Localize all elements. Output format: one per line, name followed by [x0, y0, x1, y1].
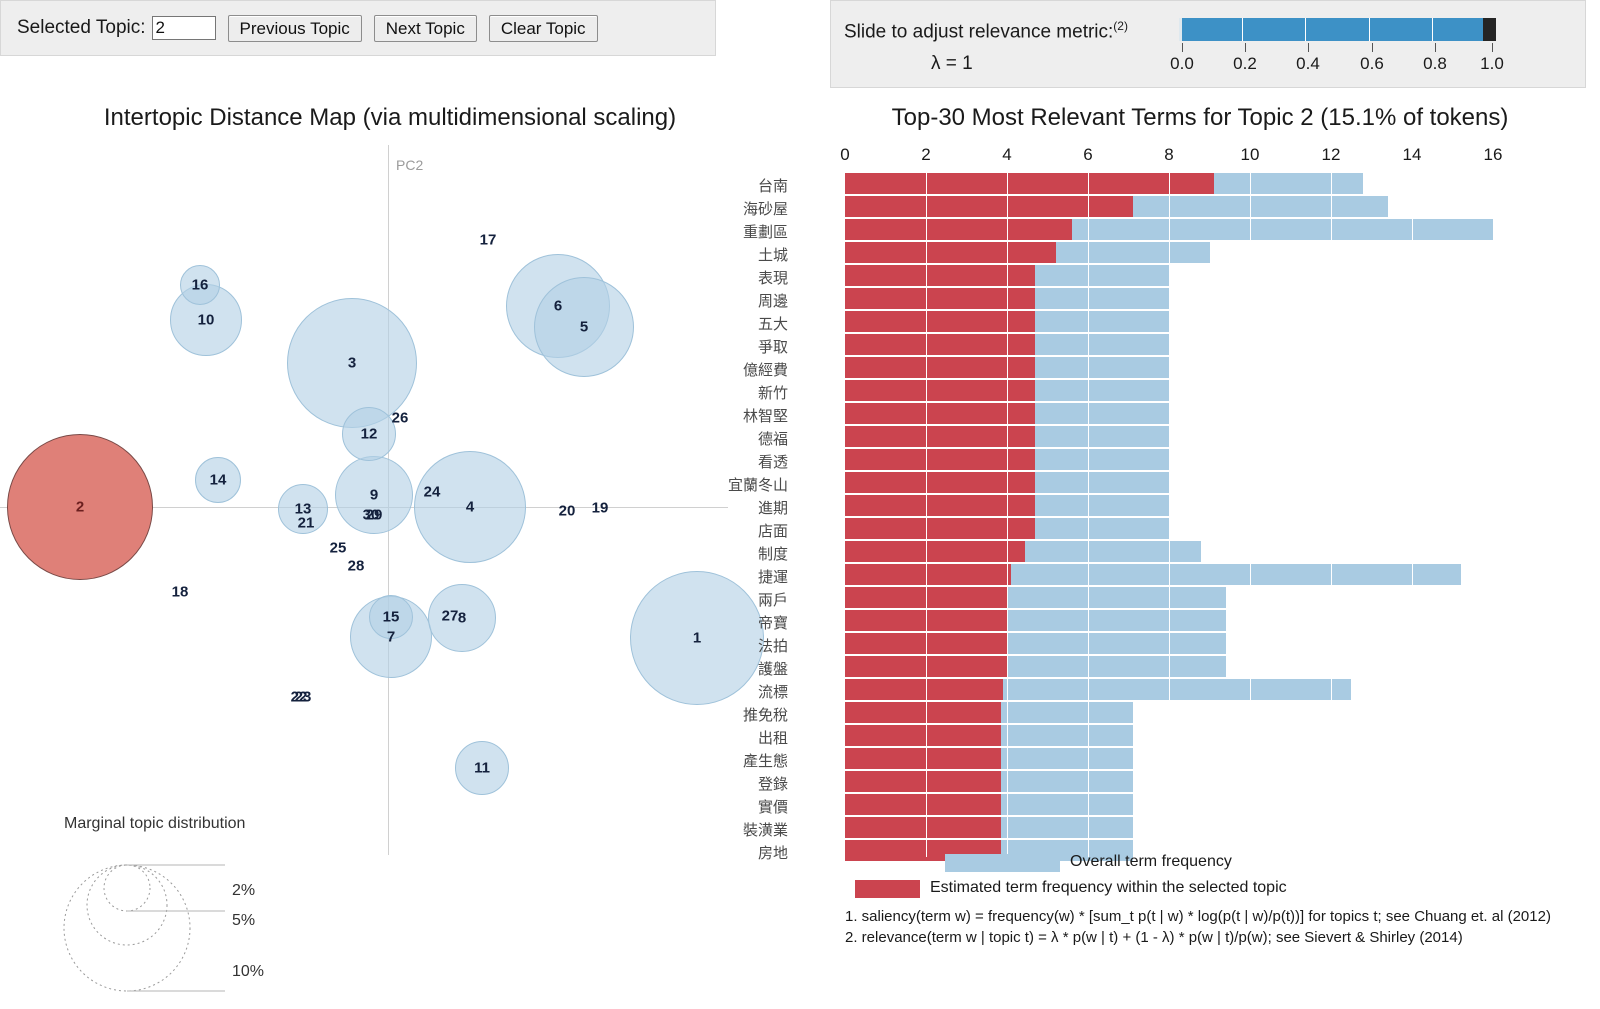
- relevance-slider-bar: Slide to adjust relevance metric:(2) λ =…: [830, 0, 1586, 88]
- topic-bubble-label-17[interactable]: 17: [480, 232, 497, 249]
- barchart-gridline: [1331, 167, 1332, 857]
- term-label[interactable]: 表現: [758, 267, 788, 288]
- term-label[interactable]: 店面: [758, 520, 788, 541]
- slider-track-start: [1179, 18, 1182, 41]
- barchart-tick-label: 2: [921, 145, 930, 165]
- barchart-gridline: [1007, 167, 1008, 857]
- legend-row-estimated: Estimated term frequency within the sele…: [845, 878, 1585, 900]
- estimated-frequency-bar: [845, 702, 1001, 723]
- term-label[interactable]: 出租: [758, 727, 788, 748]
- barchart-gridline: [926, 167, 927, 857]
- slider-tick-label: 0.4: [1296, 54, 1320, 74]
- term-label[interactable]: 新竹: [758, 382, 788, 403]
- intertopic-distance-map[interactable]: PC2 PC1 21345678910111213141516171819202…: [0, 145, 780, 855]
- estimated-frequency-bar: [845, 173, 1214, 194]
- term-label[interactable]: 億經費: [743, 359, 788, 380]
- term-label[interactable]: 德福: [758, 428, 788, 449]
- lambda-value-label: λ = 1: [931, 53, 973, 75]
- topic-bubble-label-25[interactable]: 25: [330, 540, 347, 557]
- relevance-slider-handle[interactable]: [1483, 18, 1496, 41]
- term-label[interactable]: 推免稅: [743, 704, 788, 725]
- slider-tick-label: 0.6: [1360, 54, 1384, 74]
- topic-bubble-label-7[interactable]: 7: [387, 629, 395, 646]
- term-label[interactable]: 產生態: [743, 750, 788, 771]
- topic-bubble-label-11[interactable]: 11: [474, 760, 490, 777]
- estimated-frequency-bar: [845, 748, 1001, 769]
- relevance-slider-label-text: Slide to adjust relevance metric:: [844, 21, 1113, 42]
- barchart-tick-label: 4: [1002, 145, 1011, 165]
- term-label[interactable]: 爭取: [758, 336, 788, 357]
- topic-bubble-label-4[interactable]: 4: [466, 499, 474, 516]
- pc2-axis-label: PC2: [396, 157, 423, 173]
- topic-bubble-label-30[interactable]: 30: [363, 507, 380, 524]
- intertopic-map-title: Intertopic Distance Map (via multidimens…: [0, 104, 780, 132]
- term-label[interactable]: 進期: [758, 497, 788, 518]
- topic-bubble-label-14[interactable]: 14: [210, 472, 227, 489]
- barchart-tick-label: 10: [1241, 145, 1260, 165]
- term-label[interactable]: 流標: [758, 681, 788, 702]
- barchart-legend: Overall term frequency Estimated term fr…: [845, 852, 1585, 904]
- estimated-frequency-bar: [845, 541, 1025, 562]
- topic-bubble-label-24[interactable]: 24: [424, 484, 441, 501]
- clear-topic-button[interactable]: Clear Topic: [489, 15, 598, 42]
- overall-frequency-label: Overall term frequency: [1070, 853, 1232, 871]
- topic-bubble-label-10[interactable]: 10: [198, 312, 215, 329]
- estimated-frequency-bar: [845, 725, 1001, 746]
- selected-topic-input[interactable]: [152, 16, 216, 40]
- slider-tick-label: 1.0: [1480, 54, 1504, 74]
- topic-bubble-label-21[interactable]: 21: [298, 515, 315, 532]
- axis-tick: [1492, 43, 1493, 52]
- topic-bubble-label-9[interactable]: 9: [370, 487, 378, 504]
- top-terms-barchart: 0246810121416 台南海砂屋重劃區土城表現周邊五大爭取億經費新竹林智堅…: [840, 145, 1540, 845]
- estimated-frequency-bar: [845, 817, 1001, 838]
- topic-bubble-label-8[interactable]: 8: [458, 610, 466, 627]
- estimated-frequency-bar: [845, 771, 1001, 792]
- topic-control-bar: Selected Topic: Previous Topic Next Topi…: [0, 0, 716, 56]
- topic-bubble-label-23[interactable]: 23: [295, 689, 312, 706]
- term-label[interactable]: 台南: [758, 175, 788, 196]
- topic-bubble-label-6[interactable]: 6: [554, 298, 562, 315]
- term-label[interactable]: 看透: [758, 451, 788, 472]
- barchart-gridline: [1250, 167, 1251, 857]
- relevance-footnote-marker: (2): [1113, 19, 1128, 33]
- marginal-legend-title: Marginal topic distribution: [64, 815, 245, 833]
- topic-bubble-label-16[interactable]: 16: [192, 277, 209, 294]
- topic-bubble-label-2[interactable]: 2: [76, 499, 84, 516]
- axis-tick: [1308, 43, 1309, 52]
- topic-bubble-label-5[interactable]: 5: [580, 319, 588, 336]
- term-label[interactable]: 房地: [758, 842, 788, 863]
- topic-bubble-label-15[interactable]: 15: [383, 609, 400, 626]
- relevance-slider-label: Slide to adjust relevance metric:(2): [844, 19, 1128, 43]
- term-label[interactable]: 帝寶: [758, 612, 788, 633]
- term-label[interactable]: 法拍: [758, 635, 788, 656]
- barchart-tick-label: 16: [1484, 145, 1503, 165]
- axis-tick: [1372, 43, 1373, 52]
- marginal-topic-distribution-legend: Marginal topic distribution 2% 5% 10%: [60, 815, 340, 995]
- barchart-tick-label: 12: [1322, 145, 1341, 165]
- estimated-frequency-bar: [845, 242, 1056, 263]
- barchart-tick-label: 6: [1083, 145, 1092, 165]
- term-label[interactable]: 實價: [758, 796, 788, 817]
- barchart-gridline: [1169, 167, 1170, 857]
- term-label[interactable]: 登錄: [758, 773, 788, 794]
- term-label[interactable]: 捷運: [758, 566, 788, 587]
- barchart-gridline: [1088, 167, 1089, 857]
- estimated-frequency-bar: [845, 794, 1001, 815]
- term-label[interactable]: 兩戶: [758, 589, 788, 610]
- estimated-frequency-label: Estimated term frequency within the sele…: [930, 879, 1287, 897]
- slider-tick: [1305, 18, 1306, 41]
- term-label[interactable]: 制度: [758, 543, 788, 564]
- term-label[interactable]: 護盤: [758, 658, 788, 679]
- topic-bubble-label-20[interactable]: 20: [559, 503, 576, 520]
- pyldavis-page: Selected Topic: Previous Topic Next Topi…: [0, 0, 1600, 1009]
- term-label[interactable]: 重劃區: [743, 221, 788, 242]
- slider-tick-label: 0.0: [1170, 54, 1194, 74]
- topic-bubble-label-27[interactable]: 27: [442, 608, 459, 625]
- barchart-gridline: [1412, 167, 1413, 857]
- slider-tick: [1242, 18, 1243, 41]
- estimated-frequency-bar: [845, 564, 1011, 585]
- term-label[interactable]: 五大: [758, 313, 788, 334]
- term-label[interactable]: 海砂屋: [743, 198, 788, 219]
- term-label[interactable]: 周邊: [758, 290, 788, 311]
- legend-row-overall: Overall term frequency: [845, 852, 1585, 874]
- topic-bubble-label-26[interactable]: 26: [392, 410, 409, 427]
- marginal-legend-size-5: 5%: [232, 912, 255, 930]
- estimated-frequency-bar: [845, 219, 1072, 240]
- axis-tick: [1245, 43, 1246, 52]
- slider-tick: [1432, 18, 1433, 41]
- barchart-tick-label: 0: [840, 145, 849, 165]
- overall-frequency-swatch: [945, 854, 1060, 872]
- term-label[interactable]: 林智堅: [743, 405, 788, 426]
- topic-bubble-label-3[interactable]: 3: [348, 355, 356, 372]
- marginal-legend-circles: [60, 833, 340, 993]
- footnote-saliency: 1. saliency(term w) = frequency(w) * [su…: [845, 908, 1551, 925]
- marginal-legend-size-10: 10%: [232, 963, 264, 981]
- term-label[interactable]: 裝潢業: [743, 819, 788, 840]
- axis-tick: [1182, 43, 1183, 52]
- estimated-frequency-bar: [845, 679, 1003, 700]
- estimated-frequency-swatch: [855, 880, 920, 898]
- barchart-tick-label: 14: [1403, 145, 1422, 165]
- topic-bubble-label-1[interactable]: 1: [693, 630, 701, 647]
- barchart-gridline: [1493, 167, 1494, 857]
- footnote-relevance: 2. relevance(term w | topic t) = λ * p(w…: [845, 929, 1463, 946]
- topic-bubble-label-19[interactable]: 19: [592, 500, 609, 517]
- topic-bubble-label-18[interactable]: 18: [172, 584, 189, 601]
- barchart-tick-label: 8: [1164, 145, 1173, 165]
- relevance-slider-track[interactable]: [1179, 18, 1496, 41]
- top-terms-title: Top-30 Most Relevant Terms for Topic 2 (…: [810, 104, 1590, 132]
- previous-topic-button[interactable]: Previous Topic: [228, 15, 362, 42]
- relevance-slider-axis: 0.0 0.2 0.4 0.6 0.8 1.0: [1179, 43, 1496, 77]
- term-label[interactable]: 土城: [758, 244, 788, 265]
- slider-tick-label: 0.2: [1233, 54, 1257, 74]
- slider-tick: [1369, 18, 1370, 41]
- marginal-legend-size-2: 2%: [232, 882, 255, 900]
- slider-tick-label: 0.8: [1423, 54, 1447, 74]
- next-topic-button[interactable]: Next Topic: [374, 15, 477, 42]
- term-label[interactable]: 宜蘭冬山: [728, 474, 788, 495]
- estimated-frequency-bar: [845, 196, 1133, 217]
- topic-bubble-label-12[interactable]: 12: [361, 426, 378, 443]
- topic-bubble-label-28[interactable]: 28: [348, 558, 365, 575]
- axis-tick: [1435, 43, 1436, 52]
- selected-topic-label: Selected Topic:: [17, 17, 146, 39]
